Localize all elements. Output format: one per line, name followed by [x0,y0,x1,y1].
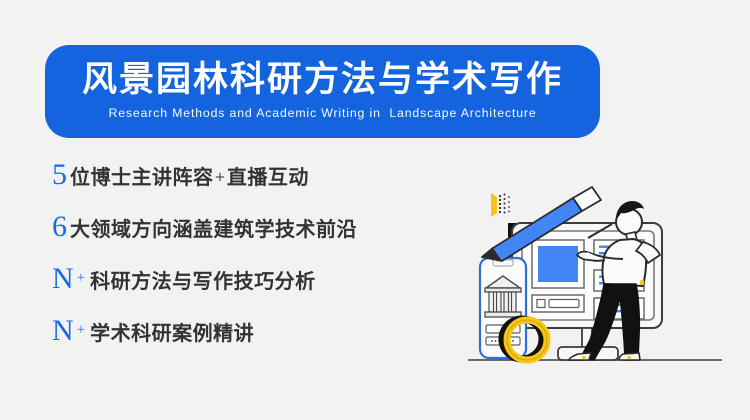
bullet-marker: 5 [52,160,67,190]
bullet-text-before: 位博士主讲阵容 [70,165,214,189]
banner-subtitle: Research Methods and Academic Writing in… [108,106,536,120]
bullet-marker: N [52,264,74,294]
feature-list: 5 位博士主讲阵容+直播互动 6 大领域方向涵盖建筑学技术前沿 N + 科研方法… [52,160,472,368]
bullet-marker: N [52,316,74,346]
bullet-text: 科研方法与写作技巧分析 [90,271,316,291]
illustration [460,180,750,380]
bullet-plus: + [77,322,85,339]
bullet-text-before: 学术科研案例精讲 [90,321,254,345]
waist-accent [640,280,644,285]
bullet-text: 学术科研案例精讲 [90,323,254,343]
list-item: 6 大领域方向涵盖建筑学技术前沿 [52,212,472,264]
banner-title: 风景园林科研方法与学术写作 [82,62,563,99]
title-banner: 风景园林科研方法与学术写作 Research Methods and Acade… [45,45,600,138]
bullet-plus: + [77,270,85,287]
bullet-text: 位博士主讲阵容+直播互动 [70,167,309,187]
bullet-mini-plus: + [214,170,227,185]
halftone-wedge-icon [491,193,510,217]
list-item: N + 科研方法与写作技巧分析 [52,264,472,316]
shoe-accent [627,356,631,360]
screen-image-block [538,246,578,282]
bullet-text-after: 直播互动 [227,165,309,189]
bullet-text-before: 科研方法与写作技巧分析 [90,269,316,293]
list-item: 5 位博士主讲阵容+直播互动 [52,160,472,212]
bullet-text-before: 大领域方向涵盖建筑学技术前沿 [70,217,357,241]
poster-canvas: 风景园林科研方法与学术写作 Research Methods and Acade… [0,0,750,420]
shoe-accent [582,356,586,360]
list-item: N + 学术科研案例精讲 [52,316,472,368]
bullet-text: 大领域方向涵盖建筑学技术前沿 [70,219,357,239]
screen-widget-square [537,300,545,308]
screen-widget-bar [549,300,579,308]
bullet-marker: 6 [52,212,67,242]
